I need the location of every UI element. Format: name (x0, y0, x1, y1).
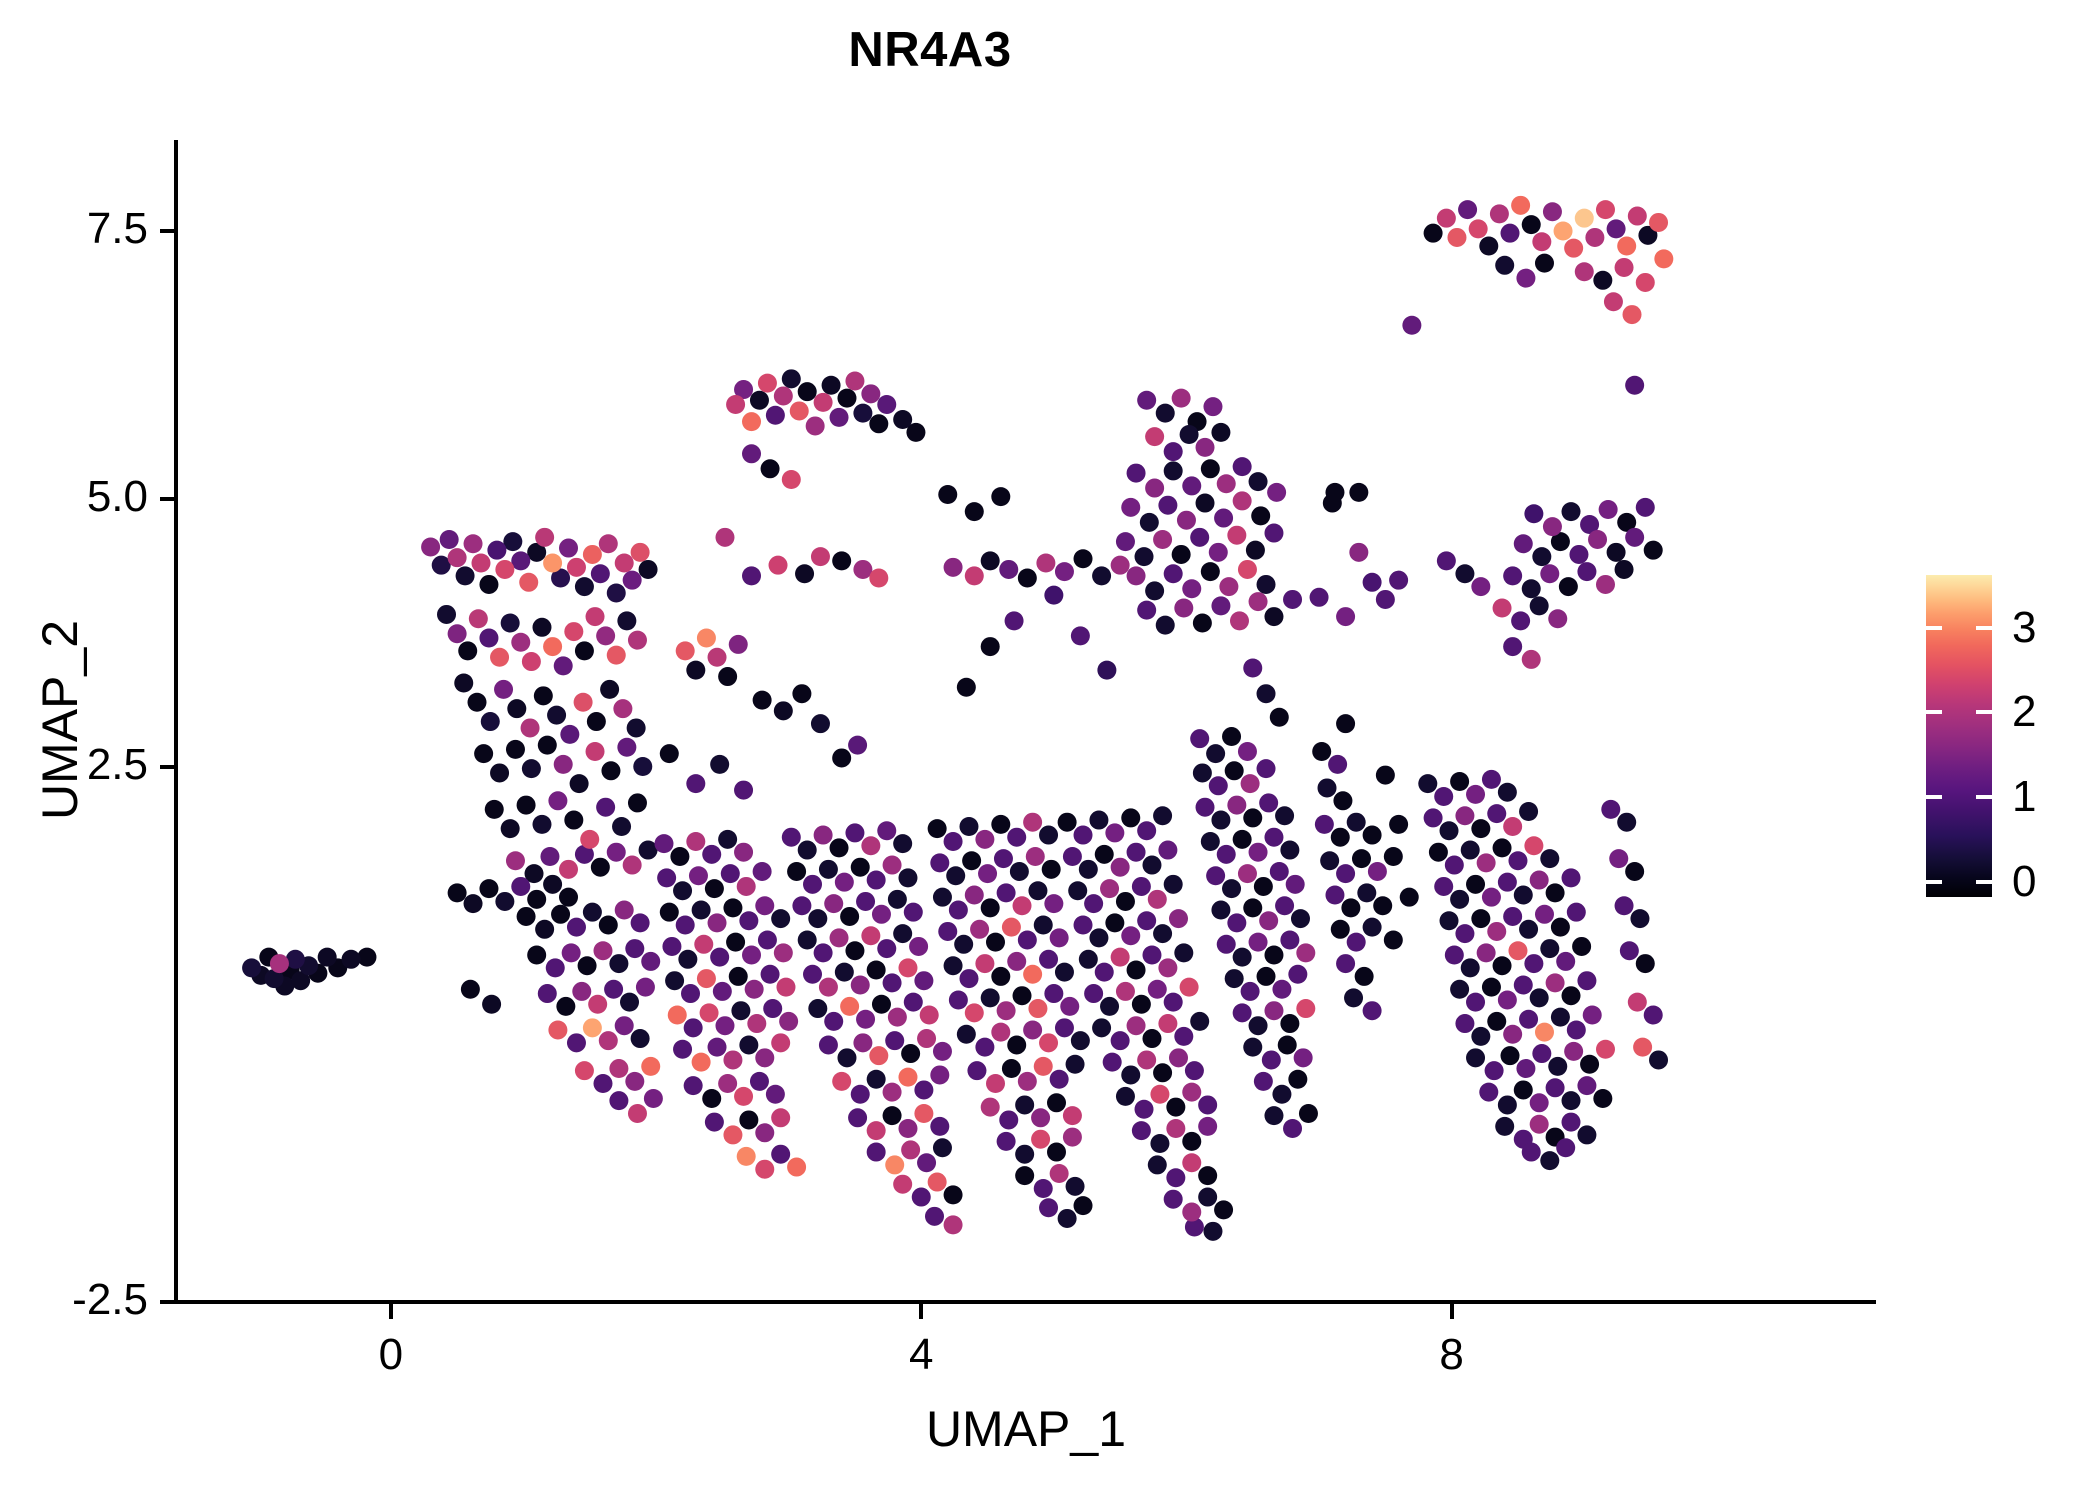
scatter-point (501, 614, 520, 633)
scatter-point (342, 950, 361, 969)
scatter-point (1503, 637, 1522, 656)
scatter-point (893, 924, 912, 943)
scatter-point (898, 1068, 917, 1087)
scatter-point (1516, 269, 1535, 288)
scatter-point (1272, 980, 1291, 999)
y-tick-mark (160, 765, 174, 769)
scatter-point (883, 973, 902, 992)
scatter-point (1198, 1166, 1217, 1185)
scatter-point (1543, 202, 1562, 221)
scatter-point (1577, 971, 1596, 990)
scatter-point (867, 871, 886, 890)
scatter-point (726, 933, 745, 952)
scatter-point (1031, 1108, 1050, 1127)
scatter-point (1127, 961, 1146, 980)
scatter-point (1198, 1117, 1217, 1136)
scatter-point (803, 965, 822, 984)
scatter-point (437, 605, 456, 624)
scatter-point (734, 781, 753, 800)
scatter-point (600, 680, 619, 699)
scatter-point (1243, 808, 1262, 827)
scatter-point (1243, 658, 1262, 677)
scatter-point (554, 755, 573, 774)
scatter-point (548, 1020, 567, 1039)
scatter-point (885, 1031, 904, 1050)
scatter-point (1262, 1050, 1281, 1069)
scatter-point (689, 866, 708, 885)
scatter-point (1617, 237, 1636, 256)
scatter-point (1153, 806, 1172, 825)
scatter-point (1461, 841, 1480, 860)
y-tick-label: -2.5 (0, 1275, 148, 1325)
scatter-point (1450, 890, 1469, 909)
scatter-point (970, 920, 989, 939)
scatter-point (1092, 1018, 1111, 1037)
scatter-point (1511, 611, 1530, 630)
scatter-point (440, 530, 459, 549)
scatter-point (1498, 873, 1517, 892)
scatter-point (1604, 292, 1623, 311)
scatter-point (623, 571, 642, 590)
scatter-point (1447, 228, 1466, 247)
scatter-point (1524, 504, 1543, 523)
scatter-point (1227, 913, 1246, 932)
scatter-point (949, 901, 968, 920)
scatter-point (1211, 423, 1230, 442)
scatter-point (814, 826, 833, 845)
scatter-point (641, 1057, 660, 1076)
scatter-point (912, 1188, 931, 1207)
scatter-point (684, 1018, 703, 1037)
scatter-point (938, 922, 957, 941)
scatter-point (1593, 1089, 1612, 1108)
scatter-point (1487, 1012, 1506, 1031)
scatter-point (543, 875, 562, 894)
scatter-point (1145, 427, 1164, 446)
scatter-point (1164, 442, 1183, 461)
scatter-point (1193, 763, 1212, 782)
scatter-point (1166, 1119, 1185, 1138)
scatter-point (494, 680, 513, 699)
scatter-point (1201, 562, 1220, 581)
scatter-point (1249, 933, 1268, 952)
scatter-point (575, 1061, 594, 1080)
scatter-point (925, 1207, 944, 1226)
scatter-point (1196, 798, 1215, 817)
colorbar-tick-mark (1976, 626, 1992, 630)
scatter-point (1127, 464, 1146, 483)
scatter-point (904, 903, 923, 922)
scatter-point (1418, 774, 1437, 793)
scatter-point (1296, 943, 1315, 962)
scatter-point (540, 847, 559, 866)
scatter-point (599, 916, 618, 935)
scatter-point (448, 624, 467, 643)
scatter-point (1615, 258, 1634, 277)
scatter-point (1455, 1014, 1474, 1033)
scatter-point (686, 774, 705, 793)
scatter-point (1347, 813, 1366, 832)
scatter-point (1445, 856, 1464, 875)
scatter-point (1275, 896, 1294, 915)
scatter-point (928, 819, 947, 838)
scatter-point (885, 1155, 904, 1174)
scatter-point (713, 982, 732, 1001)
scatter-point (1466, 785, 1485, 804)
scatter-point (848, 1108, 867, 1127)
scatter-point (1511, 196, 1530, 215)
scatter-point (479, 575, 498, 594)
scatter-point (1203, 397, 1222, 416)
scatter-point (705, 879, 724, 898)
scatter-point (1140, 513, 1159, 532)
scatter-point (776, 978, 795, 997)
scatter-point (1487, 922, 1506, 941)
scatter-point (811, 714, 830, 733)
scatter-point (1193, 614, 1212, 633)
scatter-point (1633, 1038, 1652, 1057)
scatter-point (1034, 1179, 1053, 1198)
scatter-point (633, 757, 652, 776)
scatter-point (1158, 958, 1177, 977)
scatter-point (1026, 847, 1045, 866)
scatter-point (1487, 804, 1506, 823)
scatter-point (1259, 793, 1278, 812)
scatter-point (519, 573, 538, 592)
scatter-point (877, 939, 896, 958)
scatter-point (673, 1040, 692, 1059)
scatter-point (1002, 1059, 1021, 1078)
scatter-point (737, 1147, 756, 1166)
scatter-point (845, 371, 864, 390)
scatter-point (607, 646, 626, 665)
scatter-point (1628, 207, 1647, 226)
scatter-point (1607, 543, 1626, 562)
scatter-point (1039, 1033, 1058, 1052)
colorbar-gradient (1926, 575, 1992, 897)
scatter-point (1264, 1001, 1283, 1020)
scatter-point (1376, 766, 1395, 785)
scatter-point (1071, 626, 1090, 645)
scatter-point (883, 856, 902, 875)
scatter-point (1233, 830, 1252, 849)
scatter-point (1018, 931, 1037, 950)
scatter-point (1127, 1016, 1146, 1035)
y-axis-line (174, 140, 178, 1303)
scatter-point (957, 678, 976, 697)
scatter-point (1257, 575, 1276, 594)
scatter-point (877, 395, 896, 414)
scatter-point (914, 971, 933, 990)
scatter-point (1479, 1083, 1498, 1102)
scatter-point (596, 626, 615, 645)
scatter-point (832, 1072, 851, 1091)
scatter-point (747, 1014, 766, 1033)
scatter-point (607, 584, 626, 603)
scatter-point (792, 684, 811, 703)
scatter-point (742, 566, 761, 585)
scatter-point (607, 843, 626, 862)
scatter-point (1066, 1177, 1085, 1196)
scatter-point (1233, 1003, 1252, 1022)
scatter-point (835, 873, 854, 892)
x-tick-label: 8 (1392, 1330, 1512, 1380)
scatter-point (1267, 483, 1286, 502)
scatter-point (965, 1003, 984, 1022)
scatter-point (1540, 849, 1559, 868)
scatter-point (986, 933, 1005, 952)
scatter-point (1039, 826, 1058, 845)
scatter-point (1644, 541, 1663, 560)
scatter-point (867, 1143, 886, 1162)
scatter-point (779, 1012, 798, 1031)
scatter-point (1450, 980, 1469, 999)
colorbar-tick-label: 3 (2012, 606, 2036, 650)
scatter-point (1644, 1005, 1663, 1024)
scatter-point (641, 952, 660, 971)
scatter-point (715, 1016, 734, 1035)
scatter-point (662, 937, 681, 956)
scatter-point (1649, 1050, 1668, 1069)
scatter-point (1551, 918, 1570, 937)
scatter-point (1567, 1020, 1586, 1039)
scatter-point (877, 821, 896, 840)
scatter-point (1336, 954, 1355, 973)
scatter-point (1567, 903, 1586, 922)
scatter-point (1105, 823, 1124, 842)
scatter-point (944, 1185, 963, 1204)
scatter-point (1363, 573, 1382, 592)
scatter-point (657, 868, 676, 887)
scatter-point (782, 470, 801, 489)
scatter-point (920, 1005, 939, 1024)
scatter-point (1042, 860, 1061, 879)
scatter-point (1257, 684, 1276, 703)
scatter-point (1164, 461, 1183, 480)
scatter-point (631, 543, 650, 562)
scatter-point (1535, 905, 1554, 924)
scatter-point (1063, 1106, 1082, 1125)
scatter-point (901, 1140, 920, 1159)
scatter-point (771, 909, 790, 928)
scatter-point (1336, 714, 1355, 733)
scatter-point (1150, 1134, 1169, 1153)
scatter-point (930, 853, 949, 872)
scatter-point (1177, 511, 1196, 530)
scatter-point (1522, 579, 1541, 598)
scatter-point (1180, 425, 1199, 444)
scatter-point (1190, 729, 1209, 748)
scatter-point (1341, 898, 1360, 917)
scatter-point (1103, 1053, 1122, 1072)
scatter-point (1148, 980, 1167, 999)
scatter-point (1018, 1072, 1037, 1091)
scatter-point (1493, 838, 1512, 857)
scatter-point (547, 706, 566, 725)
scatter-point (1532, 1044, 1551, 1063)
scatter-point (678, 950, 697, 969)
scatter-point (1455, 924, 1474, 943)
scatter-point (1089, 811, 1108, 830)
scatter-point (534, 686, 553, 705)
scatter-point (495, 892, 514, 911)
colorbar-tick-label: 1 (2012, 775, 2036, 819)
scatter-point (1522, 215, 1541, 234)
scatter-point (975, 1038, 994, 1057)
scatter-point (1068, 881, 1087, 900)
scatter-point (562, 943, 581, 962)
scatter-point (1320, 851, 1339, 870)
scatter-point (1461, 958, 1480, 977)
scatter-point (1150, 1085, 1169, 1104)
scatter-point (1031, 1130, 1050, 1149)
scatter-point (837, 1048, 856, 1067)
scatter-point (1495, 256, 1514, 275)
scatter-point (1050, 1164, 1069, 1183)
scatter-point (1156, 404, 1175, 423)
scatter-point (636, 978, 655, 997)
scatter-point (1551, 1008, 1570, 1027)
colorbar-tick-mark (1976, 710, 1992, 714)
scatter-point (583, 1018, 602, 1037)
scatter-point (861, 926, 880, 945)
scatter-point (753, 691, 772, 710)
scatter-point (967, 1061, 986, 1080)
scatter-point (803, 875, 822, 894)
scatter-point (723, 1050, 742, 1069)
scatter-point (448, 883, 467, 902)
scatter-point (1543, 517, 1562, 536)
scatter-point (575, 577, 594, 596)
scatter-point (1238, 742, 1257, 761)
scatter-point (676, 641, 695, 660)
scatter-point (861, 384, 880, 403)
scatter-point (1402, 316, 1421, 335)
scatter-point (644, 1089, 663, 1108)
scatter-point (1164, 875, 1183, 894)
scatter-point (1209, 543, 1228, 562)
scatter-point (1389, 815, 1408, 834)
scatter-point (593, 1074, 612, 1093)
scatter-point (1556, 1138, 1575, 1157)
scatter-point (745, 980, 764, 999)
scatter-point (1196, 494, 1215, 513)
scatter-point (1649, 213, 1668, 232)
scatter-point (1357, 883, 1376, 902)
scatter-point (1485, 1061, 1504, 1080)
scatter-point (718, 1074, 737, 1093)
scatter-point (1013, 986, 1032, 1005)
scatter-point (861, 836, 880, 855)
scatter-point (574, 693, 593, 712)
scatter-point (1166, 1168, 1185, 1187)
page-title: NR4A3 (0, 22, 1860, 78)
scatter-point (1217, 845, 1236, 864)
scatter-point (1211, 596, 1230, 615)
scatter-point (1280, 1014, 1299, 1033)
scatter-point (1007, 1035, 1026, 1054)
scatter-point (604, 980, 623, 999)
scatter-point (917, 1153, 936, 1172)
scatter-point (1079, 860, 1098, 879)
scatter-point (824, 1012, 843, 1031)
scatter-point (1058, 813, 1077, 832)
scatter-point (1535, 254, 1554, 273)
scatter-point (1493, 599, 1512, 618)
scatter-point (1514, 975, 1533, 994)
scatter-point (586, 607, 605, 626)
scatter-point (1055, 1018, 1074, 1037)
scatter-point (758, 374, 777, 393)
scatter-point (1288, 1070, 1307, 1089)
scatter-point (1344, 988, 1363, 1007)
scatter-point (1540, 564, 1559, 583)
scatter-point (490, 648, 509, 667)
scatter-point (869, 414, 888, 433)
scatter-point (965, 502, 984, 521)
scatter-point (487, 541, 506, 560)
scatter-point (242, 958, 261, 977)
scatter-point (898, 1119, 917, 1138)
scatter-point (1074, 549, 1093, 568)
scatter-point (1039, 950, 1058, 969)
scatter-point (1137, 391, 1156, 410)
scatter-point (739, 911, 758, 930)
x-tick-mark (389, 1304, 393, 1319)
scatter-point (1450, 772, 1469, 791)
scatter-point (1535, 1023, 1554, 1042)
scatter-point (1336, 607, 1355, 626)
scatter-point (1477, 943, 1496, 962)
scatter-point (1132, 877, 1151, 896)
scatter-point (981, 637, 1000, 656)
scatter-point (1132, 1121, 1151, 1140)
scatter-point (1015, 1145, 1034, 1164)
y-tick-mark (160, 497, 174, 501)
scatter-point (1636, 498, 1655, 517)
scatter-point (869, 1046, 888, 1065)
scatter-point (1249, 592, 1268, 611)
scatter-point (593, 941, 612, 960)
scatter-point (1615, 896, 1634, 915)
scatter-point (1050, 1070, 1069, 1089)
scatter-point (1524, 836, 1543, 855)
scatter-point (554, 656, 573, 675)
scatter-point (615, 554, 634, 573)
scatter-point (761, 965, 780, 984)
scatter-point (731, 1001, 750, 1020)
scatter-point (1270, 862, 1289, 881)
scatter-point (1264, 946, 1283, 965)
scatter-point (575, 641, 594, 660)
scatter-point (1530, 596, 1549, 615)
colorbar-tick-mark (1976, 795, 1992, 799)
scatter-point (853, 1033, 872, 1052)
scatter-point (1562, 868, 1581, 887)
scatter-point (798, 841, 817, 860)
scatter-point (806, 416, 825, 435)
scatter-point (1514, 886, 1533, 905)
scatter-point (485, 800, 504, 819)
scatter-point (1063, 1128, 1082, 1147)
scatter-point (1153, 530, 1172, 549)
scatter-point (755, 1160, 774, 1179)
scatter-point (583, 903, 602, 922)
scatter-point (1540, 1151, 1559, 1170)
scatter-point (930, 1117, 949, 1136)
scatter-point (1532, 547, 1551, 566)
scatter-point (1355, 967, 1374, 986)
